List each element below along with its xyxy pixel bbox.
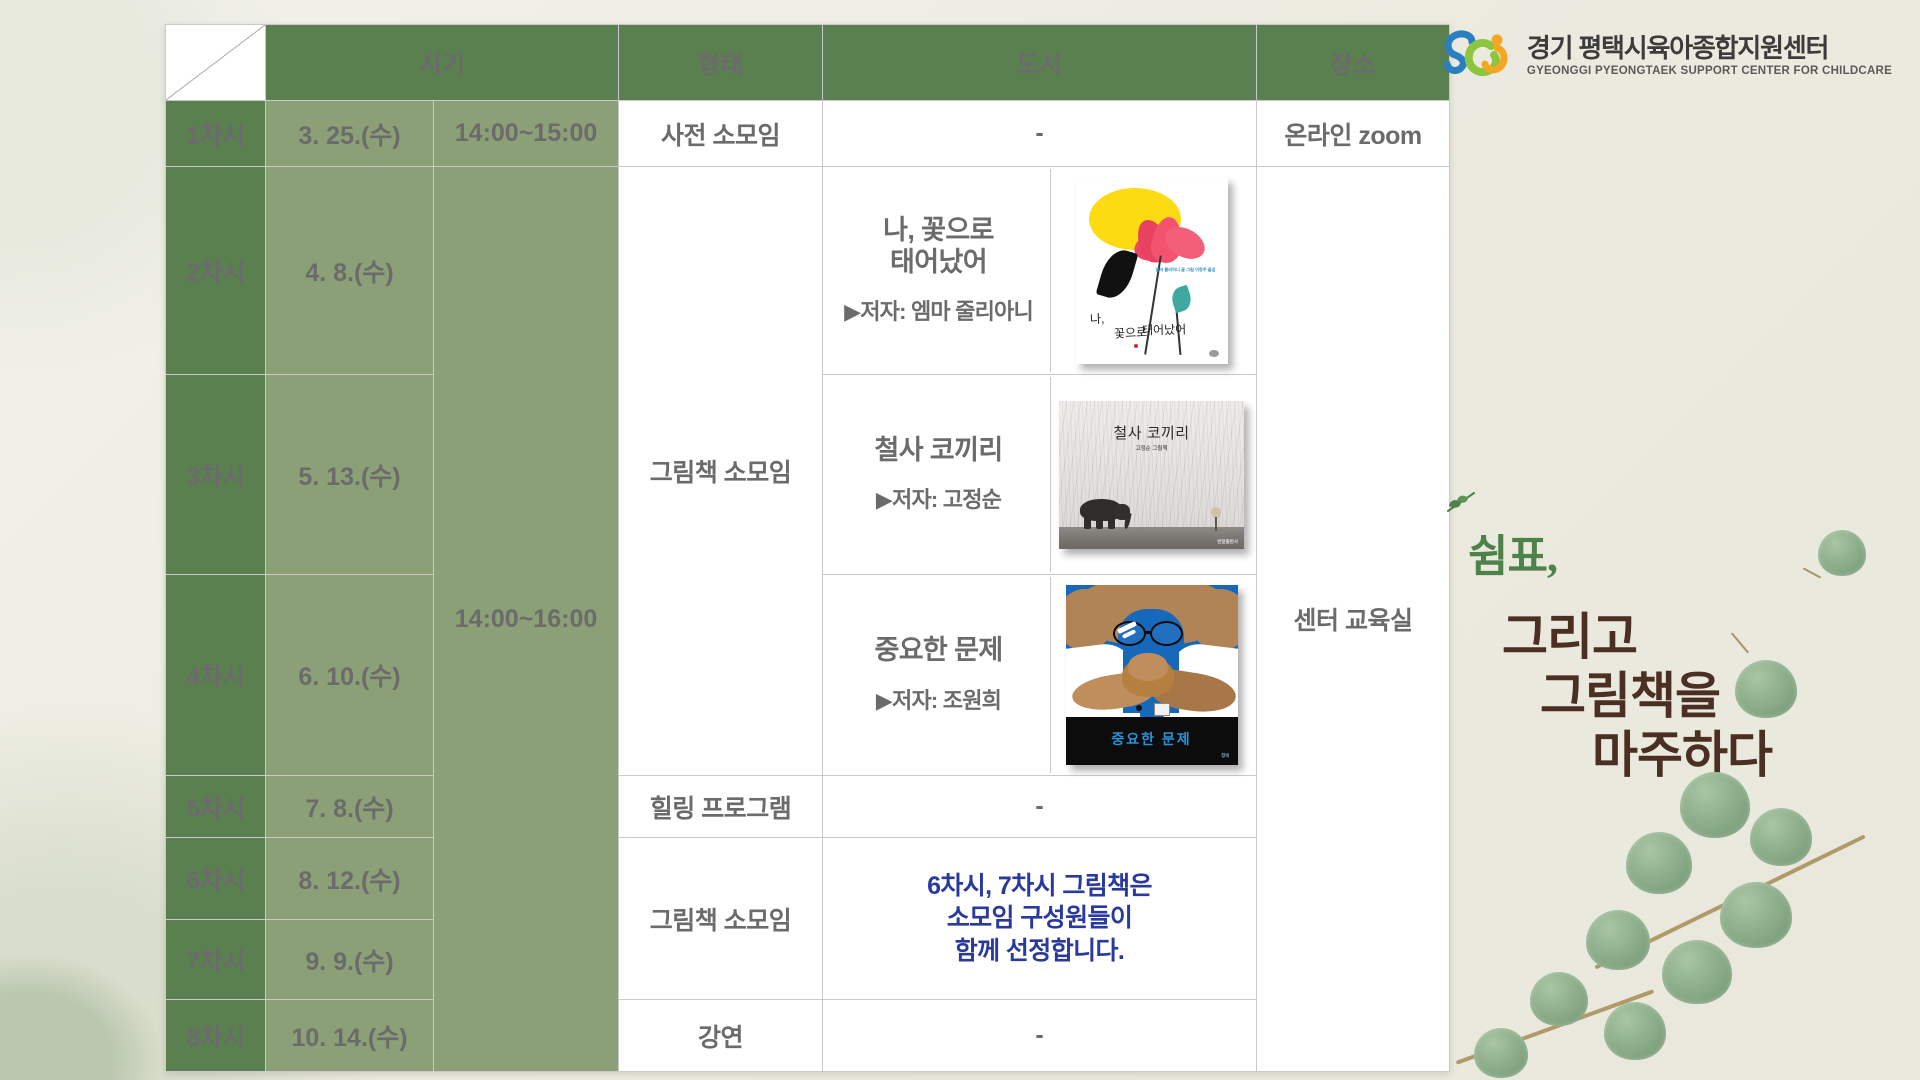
book-selection-note: 6차시, 7차시 그림책은 소모임 구성원들이 함께 선정합니다. (827, 870, 1252, 968)
book-cover-pane-3: 철사 코끼리 고정순 그림책 반달출판사 (1051, 377, 1252, 572)
session-label-4: 4차시 (166, 575, 266, 776)
date-cell-4: 6. 10.(수) (266, 575, 434, 776)
tagline-line-2: 그림책을 (1540, 667, 1864, 726)
session-label-7: 7차시 (166, 920, 266, 1000)
format-cell-1: 사전 소모임 (619, 101, 823, 167)
cover-title-elephant: 철사 코끼리 (1059, 422, 1244, 443)
book-info-3: 철사 코끼리 ▶저자: 고정순 (827, 377, 1051, 572)
book-row-3: 철사 코끼리 ▶저자: 고정순 철사 코끼리 고정순 그림책 (827, 377, 1252, 572)
format-cell-picturebook-2: 그림책 소모임 (619, 838, 823, 1000)
cover-subtitle-flower: 엠마 줄리아니 글·그림 이정주 옮김 (1156, 267, 1216, 273)
bottom-left-foliage-decoration (0, 954, 160, 1080)
book-note-cell: 6차시, 7차시 그림책은 소모임 구성원들이 함께 선정합니다. (823, 838, 1257, 1000)
book-row-2: 나, 꽃으로 태어났어 ▶저자: 엠마 줄리아니 (827, 169, 1252, 372)
table-row: 1차시 3. 25.(수) 14:00~15:00 사전 소모임 - 온라인 z… (166, 101, 1450, 167)
book-cover-image-elephant: 철사 코끼리 고정순 그림책 반달출판사 (1059, 401, 1244, 549)
table-header-row: 시기 형태 도서 장소 (166, 25, 1450, 101)
book-row-4: 중요한 문제 ▶저자: 조원희 (827, 577, 1252, 773)
date-cell-6: 8. 12.(수) (266, 838, 434, 920)
cover-title-important: 중요한 문제 (1066, 729, 1238, 749)
cover-publisher-elephant: 반달출판사 (1217, 539, 1238, 545)
book-cover-pane-2: 엠마 줄리아니 글·그림 이정주 옮김 나, 꽃으로 태어났어 (1051, 169, 1252, 372)
book-author-2: ▶저자: 엠마 줄리아니 (844, 294, 1033, 326)
table-row: 2차시 4. 8.(수) 14:00~16:00 그림책 소모임 나, 꽃으로 … (166, 167, 1450, 375)
place-cell-1: 온라인 zoom (1257, 101, 1450, 167)
book-author-3: ▶저자: 고정순 (876, 482, 1001, 514)
session-label-5: 5차시 (166, 776, 266, 838)
book-info-4: 중요한 문제 ▶저자: 조원희 (827, 577, 1051, 773)
date-cell-1: 3. 25.(수) (266, 101, 434, 167)
book-cell-4: 중요한 문제 ▶저자: 조원희 (823, 575, 1257, 776)
tagline-block: 쉼표, 그리고 그림책을 마주하다 (1444, 520, 1864, 785)
date-cell-2: 4. 8.(수) (266, 167, 434, 375)
header-book: 도서 (823, 25, 1257, 101)
tagline-line-1: 그리고 (1502, 608, 1864, 667)
center-logo: 경기 평택시육아종합지원센터 GYEONGGI PYEONGTAEK SUPPO… (1439, 30, 1892, 82)
header-corner-cell (166, 25, 266, 101)
schedule-table-container: 시기 형태 도서 장소 1차시 3. 25.(수) 14:00~15:00 사전… (165, 24, 1449, 1054)
tagline-small: 쉼표, (1468, 520, 1864, 584)
schedule-table: 시기 형태 도서 장소 1차시 3. 25.(수) 14:00~15:00 사전… (165, 24, 1450, 1072)
book-author-4: ▶저자: 조원희 (876, 683, 1001, 715)
format-cell-healing: 힐링 프로그램 (619, 776, 823, 838)
time-cell-1: 14:00~15:00 (434, 101, 619, 167)
book-cell-3: 철사 코끼리 ▶저자: 고정순 철사 코끼리 고정순 그림책 (823, 375, 1257, 575)
book-cell-5: - (823, 776, 1257, 838)
book-cover-pane-4: 중요한 문제 창비 (1051, 577, 1252, 773)
session-label-6: 6차시 (166, 838, 266, 920)
session-label-1: 1차시 (166, 101, 266, 167)
time-cell-main: 14:00~16:00 (434, 167, 619, 1072)
session-label-8: 8차시 (166, 1000, 266, 1072)
tagline-line-3: 마주하다 (1592, 726, 1864, 785)
format-cell-picturebook: 그림책 소모임 (619, 167, 823, 776)
place-cell-main: 센터 교육실 (1257, 167, 1450, 1072)
book-cover-image-flower: 엠마 줄리아니 글·그림 이정주 옮김 나, 꽃으로 태어났어 (1076, 177, 1228, 364)
logo-name-english: GYEONGGI PYEONGTAEK SUPPORT CENTER FOR C… (1527, 65, 1892, 77)
date-cell-7: 9. 9.(수) (266, 920, 434, 1000)
book-title-4: 중요한 문제 (874, 635, 1002, 667)
session-label-2: 2차시 (166, 167, 266, 375)
logo-name-korean: 경기 평택시육아종합지원센터 (1527, 35, 1892, 62)
date-cell-5: 7. 8.(수) (266, 776, 434, 838)
session-label-3: 3차시 (166, 375, 266, 575)
book-title-3: 철사 코끼리 (874, 435, 1002, 467)
date-cell-3: 5. 13.(수) (266, 375, 434, 575)
book-cell-2: 나, 꽃으로 태어났어 ▶저자: 엠마 줄리아니 (823, 167, 1257, 375)
book-title-2: 나, 꽃으로 태어났어 (883, 215, 994, 279)
book-cell-1: - (823, 101, 1257, 167)
cover-publisher-important: 창비 (1221, 753, 1229, 759)
header-format: 형태 (619, 25, 823, 101)
leaf-sprig-icon (1444, 492, 1478, 514)
cover-title-flower: 나, 꽃으로 태어났어 (1087, 310, 1219, 344)
cover-subtitle-elephant: 고정순 그림책 (1059, 444, 1244, 452)
header-place: 장소 (1257, 25, 1450, 101)
book-cover-image-important: 중요한 문제 창비 (1066, 585, 1238, 765)
header-period: 시기 (266, 25, 619, 101)
diagonal-slash-icon (166, 25, 265, 100)
sc-logo-icon (1439, 30, 1513, 82)
book-cell-8: - (823, 1000, 1257, 1072)
format-cell-lecture: 강연 (619, 1000, 823, 1072)
date-cell-8: 10. 14.(수) (266, 1000, 434, 1072)
book-info-2: 나, 꽃으로 태어났어 ▶저자: 엠마 줄리아니 (827, 169, 1051, 372)
